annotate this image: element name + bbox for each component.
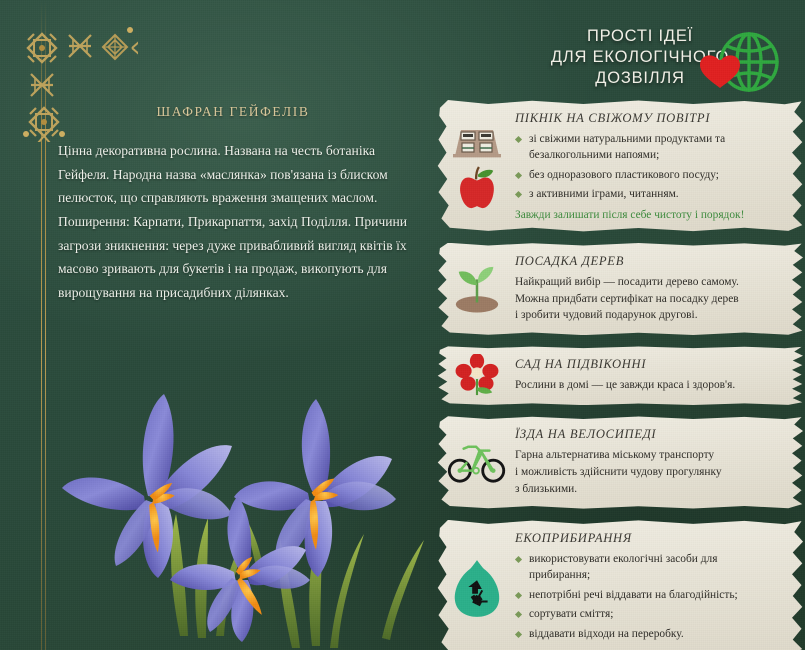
- list-item: зі свіжими натуральними продуктами та бе…: [515, 131, 781, 164]
- plant-paragraph: Цінна декоративна рослина. Названа на че…: [58, 139, 408, 210]
- bicycle-icon: [447, 442, 507, 484]
- plant-info-panel: ШАФРАН ГЕЙФЕЛІВ Цінна декоративна рослин…: [58, 104, 408, 304]
- card-bullet-list: використовувати екологічні засоби для пр…: [515, 551, 781, 642]
- card-highlight-note: Завжди залишати після себе чистоту і пор…: [515, 209, 781, 221]
- page-title: ШАФРАН ГЕЙФЕЛІВ: [58, 104, 408, 120]
- card-line: Можна придбати сертифікат на посадку дер…: [515, 291, 781, 308]
- card-icon-group: [446, 354, 508, 397]
- card-title: САД НА ПІДВІКОННІ: [515, 357, 781, 372]
- list-item: сортувати сміття;: [515, 606, 781, 622]
- recycle-bag-icon: [451, 556, 503, 620]
- card-title: ЕКОПРИБИРАННЯ: [515, 531, 781, 546]
- card-icon-group: [446, 108, 508, 224]
- card-eco-cleaning[interactable]: ЕКОПРИБИРАННЯ використовувати екологічні…: [437, 520, 803, 650]
- card-line: з близькими.: [515, 481, 781, 498]
- list-item: віддавати відходи на переробку.: [515, 626, 781, 642]
- globe-heart-icon: [697, 24, 793, 106]
- card-title: ПОСАДКА ДЕРЕВ: [515, 254, 781, 269]
- eco-ideas-card-list: ПІКНІК НА СВІЖОМУ ПОВІТРІ зі свіжими нат…: [437, 100, 803, 650]
- card-icon-group: [446, 251, 508, 328]
- picnic-table-icon: [449, 122, 505, 160]
- card-icon-group: [446, 424, 508, 501]
- card-line: Найкращий вибір — посадити дерево самому…: [515, 274, 781, 291]
- card-picnic[interactable]: ПІКНІК НА СВІЖОМУ ПОВІТРІ зі свіжими нат…: [437, 100, 803, 232]
- card-icon-group: [446, 528, 508, 648]
- plant-paragraph: Поширення: Карпати, Прикарпаття, захід П…: [58, 210, 408, 305]
- poster-header: ПРОСТІ ІДЕЇ ДЛЯ ЕКОЛОГІЧНОГО ДОЗВІЛЛЯ: [435, 24, 805, 100]
- list-item: без одноразового пластикового посуду;: [515, 167, 781, 183]
- list-item: використовувати екологічні засоби для пр…: [515, 551, 781, 584]
- apple-icon: [457, 166, 497, 210]
- seedling-icon: [449, 264, 505, 314]
- card-tree-planting[interactable]: ПОСАДКА ДЕРЕВ Найкращий вибір — посадити…: [437, 243, 803, 336]
- card-bullet-list: зі свіжими натуральними продуктами та бе…: [515, 131, 781, 203]
- card-windowsill-garden[interactable]: САД НА ПІДВІКОННІ Рослини в домі — це за…: [437, 346, 803, 405]
- card-line: і можливість здійснити чудову прогулянку: [515, 464, 781, 481]
- list-item: непотрібні речі віддавати на благодійніс…: [515, 587, 781, 603]
- crocus-flowers-illustration: [30, 336, 430, 650]
- list-item: з активними іграми, читанням.: [515, 186, 781, 202]
- card-bicycle[interactable]: ЇЗДА НА ВЕЛОСИПЕДІ Гарна альтернатива мі…: [437, 416, 803, 509]
- card-title: ЇЗДА НА ВЕЛОСИПЕДІ: [515, 427, 781, 442]
- plant-description: Цінна декоративна рослина. Названа на че…: [58, 139, 408, 304]
- card-line: і зробити чудовий подарунок другові.: [515, 307, 781, 324]
- red-flower-icon: [452, 354, 502, 397]
- card-title: ПІКНІК НА СВІЖОМУ ПОВІТРІ: [515, 111, 781, 126]
- eco-poster: ШАФРАН ГЕЙФЕЛІВ Цінна декоративна рослин…: [0, 0, 805, 650]
- card-line: Рослини в домі — це завжди краса і здоро…: [515, 377, 781, 394]
- card-line: Гарна альтернатива міському транспорту: [515, 447, 781, 464]
